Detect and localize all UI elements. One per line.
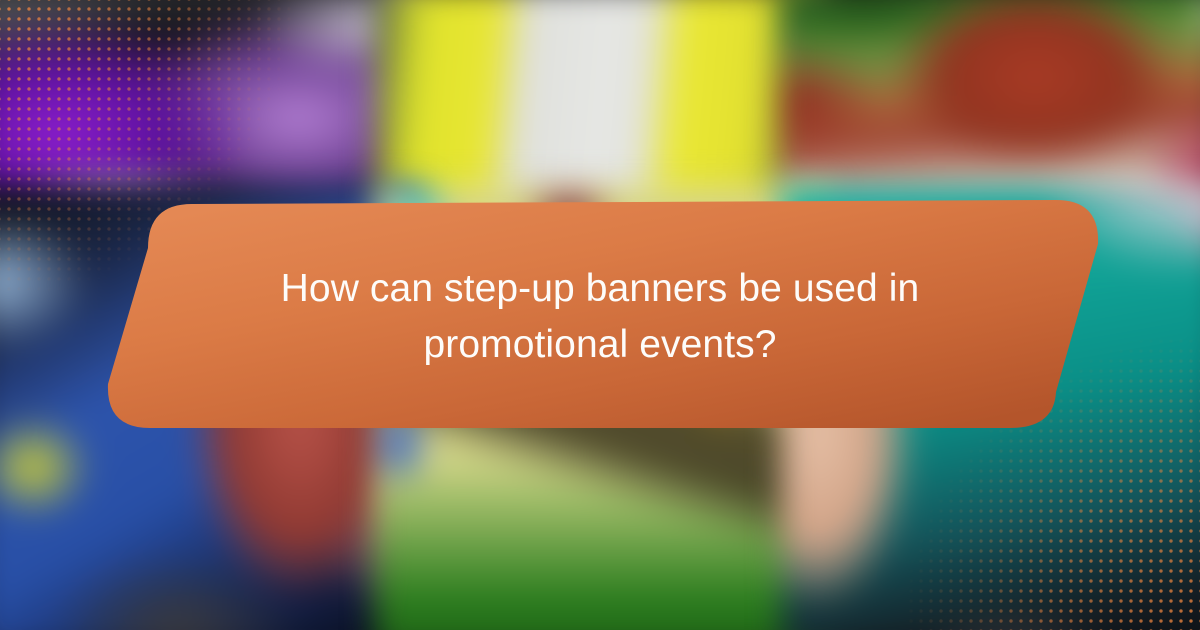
- question-text: How can step-up banners be used in promo…: [270, 261, 930, 373]
- question-card: How can step-up banners be used in promo…: [0, 0, 1200, 630]
- question-card-image: How can step-up banners be used in promo…: [0, 0, 1200, 630]
- question-text-block: How can step-up banners be used in promo…: [150, 212, 1050, 422]
